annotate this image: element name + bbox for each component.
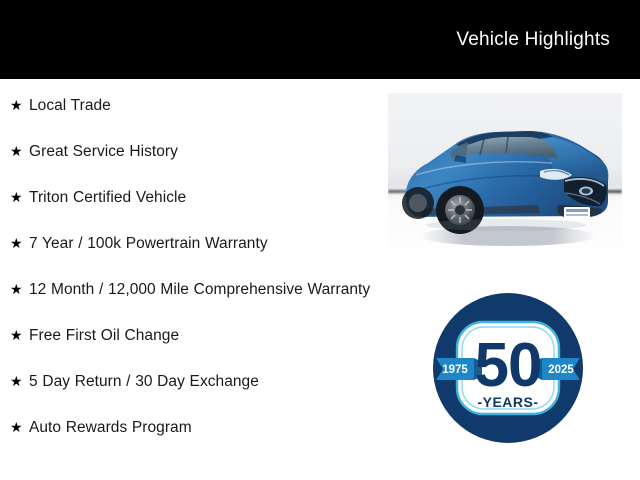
suv-illustration <box>388 93 622 266</box>
list-item-label: Triton Certified Vehicle <box>29 187 374 208</box>
vehicle-photo <box>388 93 622 266</box>
list-item-label: 7 Year / 100k Powertrain Warranty <box>29 233 374 254</box>
list-item: ★ Great Service History <box>0 141 384 162</box>
badge-years-label: -YEARS- <box>477 394 538 410</box>
list-item: ★ 12 Month / 12,000 Mile Comprehensive W… <box>0 279 384 300</box>
star-icon: ★ <box>10 141 29 162</box>
badge-number: 50 <box>475 331 542 400</box>
list-item-label: Local Trade <box>29 95 374 116</box>
list-item: ★ Free First Oil Change <box>0 325 384 346</box>
list-item: ★ Auto Rewards Program <box>0 417 384 438</box>
star-icon: ★ <box>10 187 29 208</box>
page-header: Vehicle Highlights <box>0 0 640 79</box>
start-year-text: 1975 <box>442 364 468 376</box>
list-item: ★ Triton Certified Vehicle <box>0 187 384 208</box>
star-icon: ★ <box>10 371 29 392</box>
badge-graphic: 1975 2025 50 -YEARS- <box>430 290 586 446</box>
list-item: ★ 5 Day Return / 30 Day Exchange <box>0 371 384 392</box>
fifty-years-badge: 1975 2025 50 -YEARS- <box>430 290 586 446</box>
page-title: Vehicle Highlights <box>456 30 610 49</box>
vehicle-highlights-page: Vehicle Highlights ★ Local Trade ★ Great… <box>0 0 640 480</box>
end-year-text: 2025 <box>548 364 574 376</box>
list-item-label: Free First Oil Change <box>29 325 374 346</box>
list-item-label: Great Service History <box>29 141 374 162</box>
list-item-label: 5 Day Return / 30 Day Exchange <box>29 371 374 392</box>
star-icon: ★ <box>10 279 29 300</box>
list-item-label: 12 Month / 12,000 Mile Comprehensive War… <box>29 279 374 300</box>
star-icon: ★ <box>10 233 29 254</box>
star-icon: ★ <box>10 417 29 438</box>
list-item: ★ 7 Year / 100k Powertrain Warranty <box>0 233 384 254</box>
highlights-list: ★ Local Trade ★ Great Service History ★ … <box>0 79 384 463</box>
star-icon: ★ <box>10 325 29 346</box>
list-item: ★ Local Trade <box>0 95 384 116</box>
star-icon: ★ <box>10 95 29 116</box>
list-item-label: Auto Rewards Program <box>29 417 374 438</box>
